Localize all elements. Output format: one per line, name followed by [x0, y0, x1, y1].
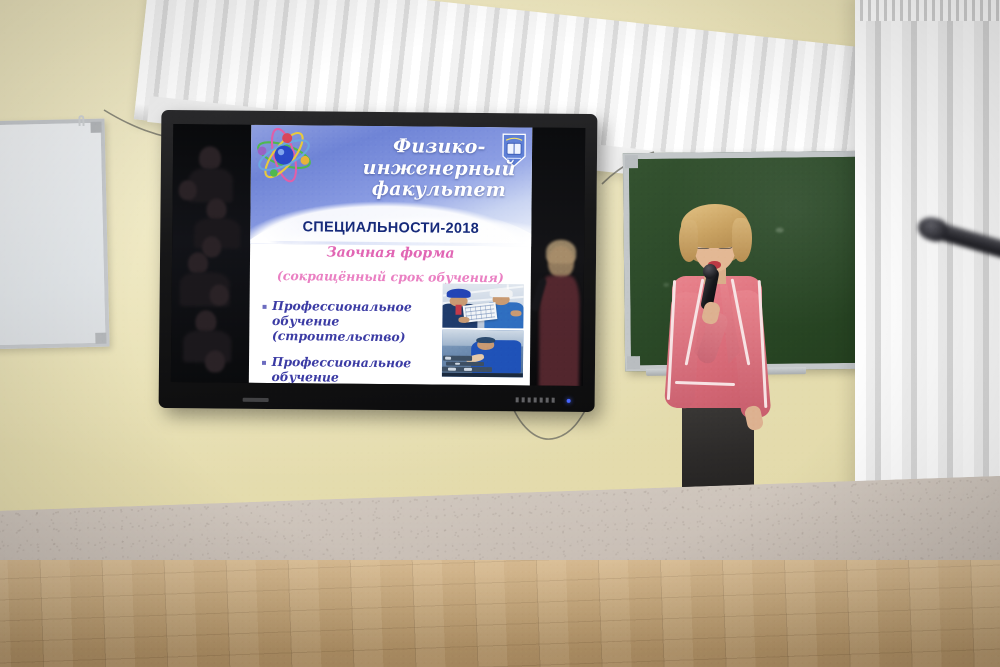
presentation-slide: Физико-инженерный факультет СПЕЦИАЛЬНОСТ… — [249, 125, 532, 386]
bullet-text: Профессиональное обучение (машиностроени… — [271, 354, 441, 385]
bullet-marker-icon — [262, 361, 266, 365]
parquet-floor — [0, 560, 1000, 667]
slide-title: Физико-инженерный факультет — [357, 136, 521, 201]
display-brand-logo — [243, 398, 269, 402]
slide-bullet-list: Профессиональное обучение (строительство… — [261, 298, 442, 386]
lecture-hall-scene: Физико-инженерный факультет СПЕЦИАЛЬНОСТ… — [0, 0, 1000, 667]
slide-title-line2: факультет — [357, 179, 520, 202]
slide-title-line1: Физико-инженерный — [358, 136, 521, 180]
photo-engineers-with-blueprints — [442, 284, 524, 328]
whiteboard-corner-cap — [95, 333, 106, 344]
display-control-buttons[interactable] — [516, 397, 555, 402]
whiteboard — [0, 119, 110, 350]
bullet-marker-icon — [262, 305, 266, 309]
whiteboard-hook — [78, 115, 84, 126]
list-item: Профессиональное обучение (машиностроени… — [261, 354, 441, 385]
screen-reflection-presenter — [530, 127, 585, 385]
presenter-hair-side — [679, 220, 698, 262]
display-screen[interactable]: Физико-инженерный факультет СПЕЦИАЛЬНОСТ… — [171, 124, 585, 386]
chalkboard-corner-cap — [627, 356, 640, 369]
interactive-display-panel[interactable]: Физико-инженерный факультет СПЕЦИАЛЬНОСТ… — [159, 110, 598, 412]
slide-subtitle: СПЕЦИАЛЬНОСТИ-2018 — [273, 219, 509, 237]
curtain-rod-pleats — [855, 0, 1000, 21]
whiteboard-surface — [0, 123, 105, 346]
display-power-led-icon — [567, 399, 571, 403]
chalkboard-corner-cap — [625, 155, 638, 168]
screen-reflection-audience — [171, 124, 251, 383]
slide-study-form: Заочная форма — [272, 244, 508, 262]
slide-photo-column — [441, 284, 523, 378]
presenter-hair-side — [732, 218, 752, 262]
list-item: Профессиональное обучение (строительство… — [262, 298, 442, 345]
photo-technician-at-machinery — [441, 329, 523, 377]
slide-study-note: (сокращённый срок обучения) — [261, 268, 520, 285]
atom-molecule-logo — [253, 126, 316, 185]
bullet-text: Профессиональное обучение (строительство… — [272, 298, 442, 345]
